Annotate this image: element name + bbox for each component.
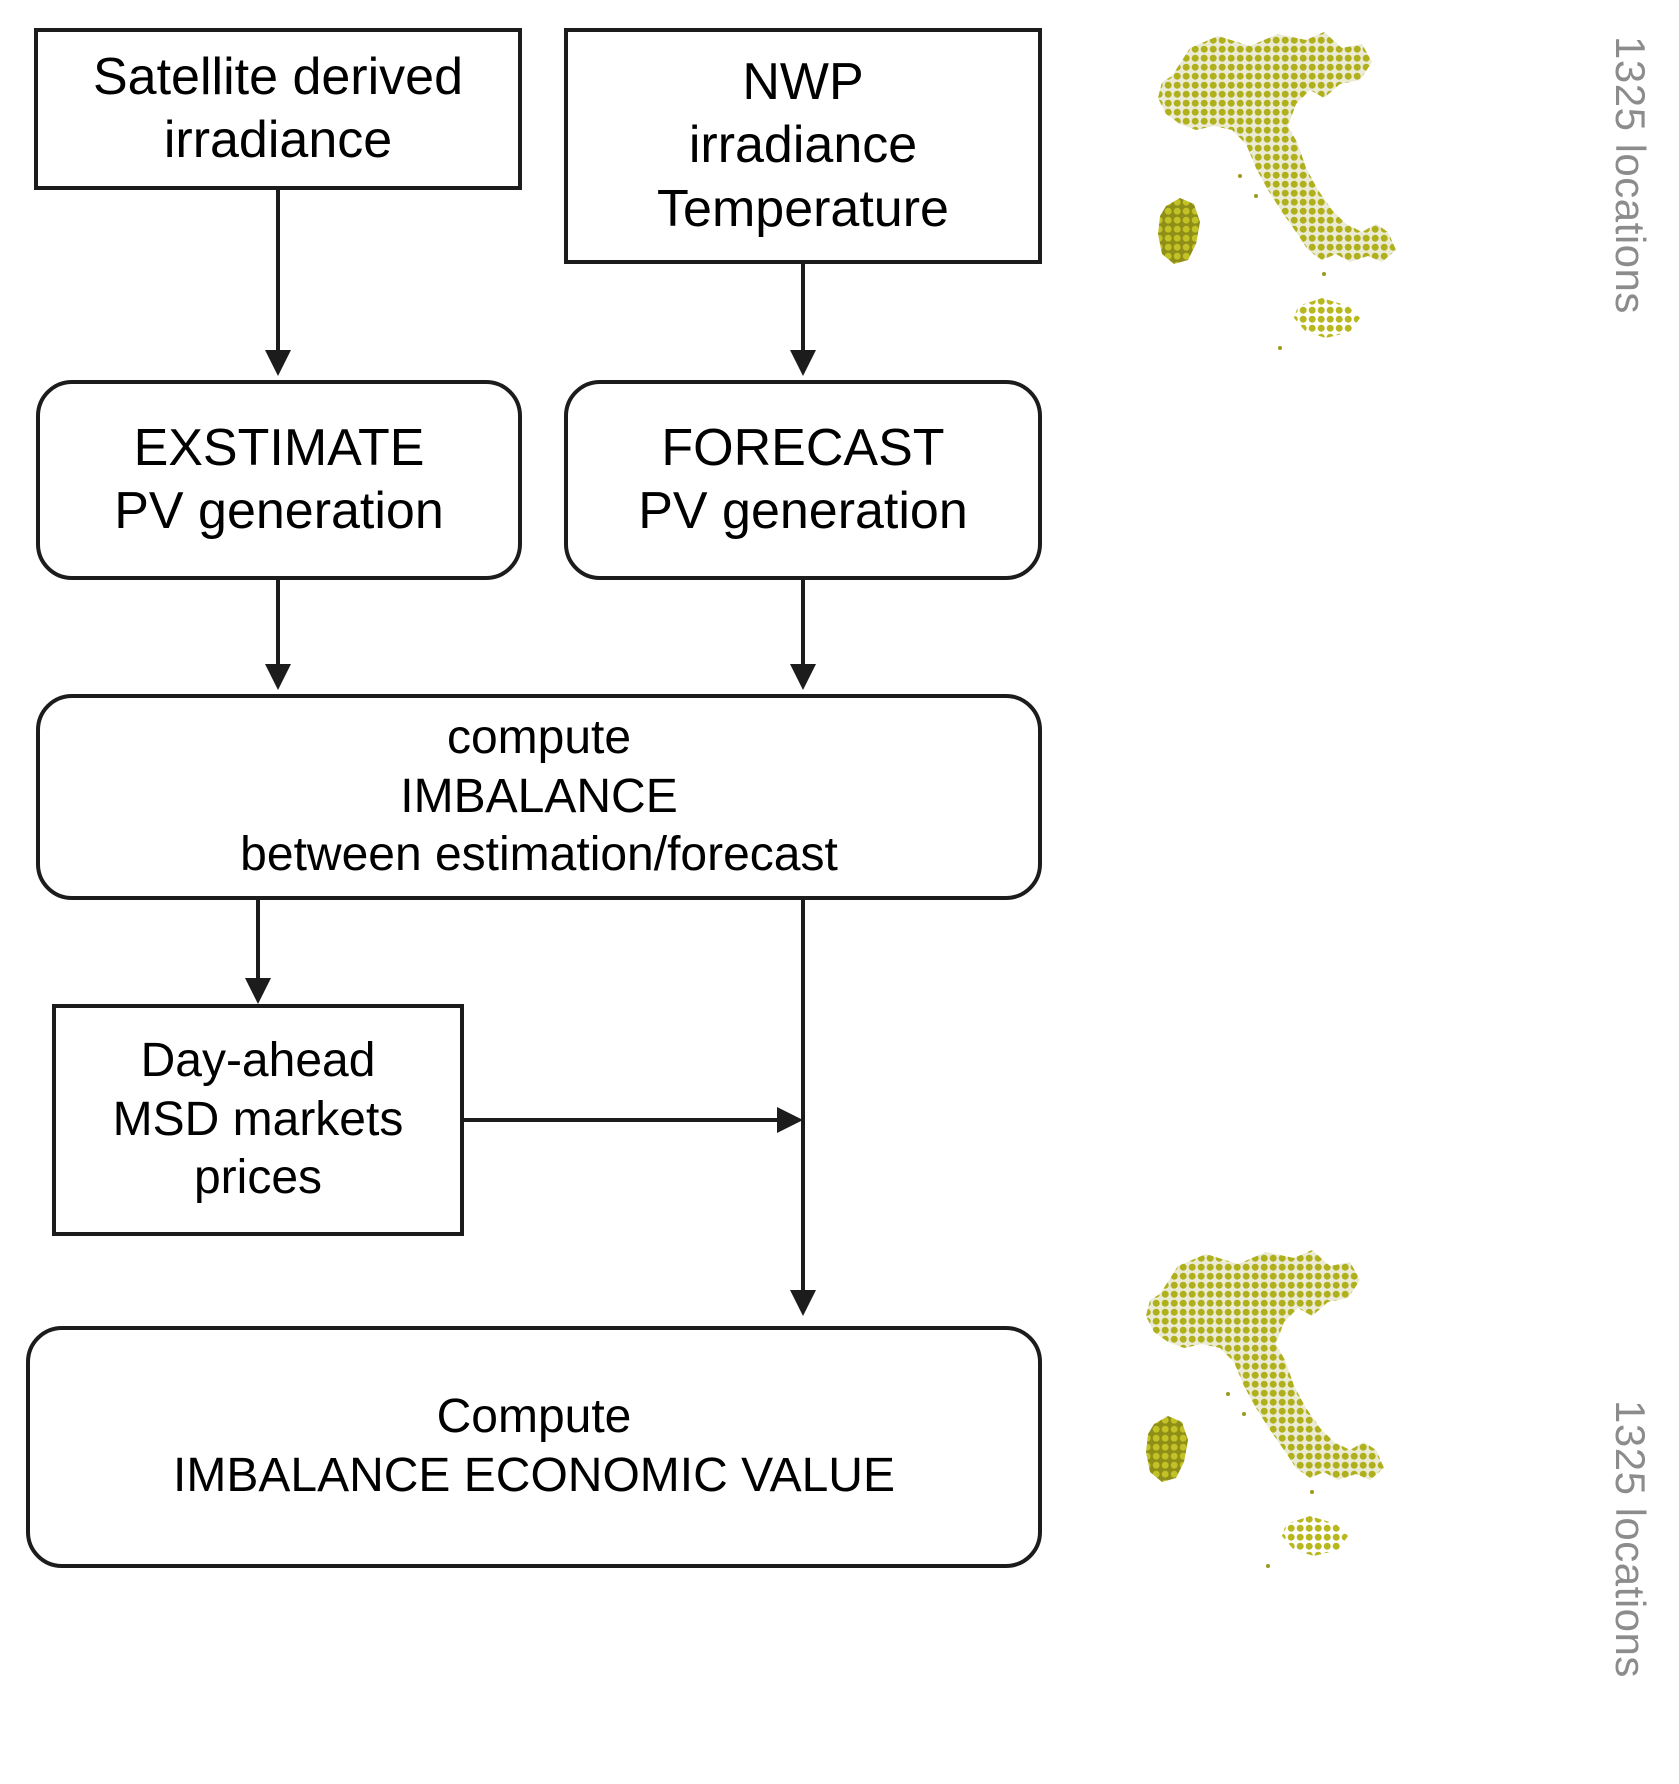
diagram-canvas: Satellite derived irradiance NWP irradia… — [0, 0, 1679, 1784]
node-satellite-derived-irradiance[interactable]: Satellite derived irradiance — [34, 28, 522, 190]
edge-nwp-to-forecast — [801, 264, 805, 350]
arrowhead-nwp-to-forecast — [790, 350, 816, 376]
edge-forecast-to-imbalance — [801, 580, 805, 664]
node-imbalance-line-2: IMBALANCE — [400, 768, 677, 827]
node-msd-line-3: prices — [194, 1149, 322, 1208]
node-nwp-line-1: NWP — [742, 51, 863, 114]
arrowhead-forecast-to-imbalance — [790, 664, 816, 690]
map-italy-bottom-wrapper — [1098, 1236, 1428, 1581]
node-nwp-irradiance-temperature[interactable]: NWP irradiance Temperature — [564, 28, 1042, 264]
node-nwp-line-3: Temperature — [657, 178, 949, 241]
arrowhead-imbalance-to-msd — [245, 978, 271, 1004]
edge-msd-to-economic-line — [464, 1118, 777, 1122]
node-economic-line-1: Compute — [437, 1388, 632, 1447]
edge-imbalance-to-economic — [801, 900, 805, 1290]
italy-map-top-icon — [1110, 18, 1440, 363]
map-top-locations-label: 1325 locations — [1606, 36, 1654, 314]
arrowhead-imbalance-to-economic — [790, 1290, 816, 1316]
node-exstimate-line-2: PV generation — [114, 480, 444, 543]
edge-imbalance-to-msd — [256, 900, 260, 978]
node-exstimate-line-1: EXSTIMATE — [134, 417, 425, 480]
italy-map-bottom-icon — [1098, 1236, 1428, 1581]
node-satellite-line-1: Satellite derived — [93, 46, 463, 109]
node-msd-line-1: Day-ahead — [141, 1032, 376, 1091]
edge-exstimate-to-imbalance — [276, 580, 280, 664]
node-forecast-pv-generation[interactable]: FORECAST PV generation — [564, 380, 1042, 580]
arrowhead-satellite-to-exstimate — [265, 350, 291, 376]
node-msd-line-2: MSD markets — [113, 1091, 404, 1150]
node-compute-imbalance[interactable]: compute IMBALANCE between estimation/for… — [36, 694, 1042, 900]
node-exstimate-pv-generation[interactable]: EXSTIMATE PV generation — [36, 380, 522, 580]
node-economic-line-2: IMBALANCE ECONOMIC VALUE — [173, 1447, 895, 1506]
node-forecast-line-2: PV generation — [638, 480, 968, 543]
node-imbalance-line-1: compute — [447, 709, 631, 768]
edge-satellite-to-exstimate — [276, 190, 280, 350]
map-bottom-locations-label: 1325 locations — [1606, 1400, 1654, 1678]
node-day-ahead-msd-markets-prices[interactable]: Day-ahead MSD markets prices — [52, 1004, 464, 1236]
arrowhead-exstimate-to-imbalance — [265, 664, 291, 690]
node-compute-imbalance-economic-value[interactable]: Compute IMBALANCE ECONOMIC VALUE — [26, 1326, 1042, 1568]
map-italy-top-wrapper — [1110, 18, 1440, 363]
node-forecast-line-1: FORECAST — [661, 417, 944, 480]
node-imbalance-line-3: between estimation/forecast — [240, 826, 838, 885]
node-satellite-line-2: irradiance — [164, 109, 392, 172]
arrowhead-msd-to-economic — [777, 1107, 803, 1133]
node-nwp-line-2: irradiance — [689, 114, 917, 177]
